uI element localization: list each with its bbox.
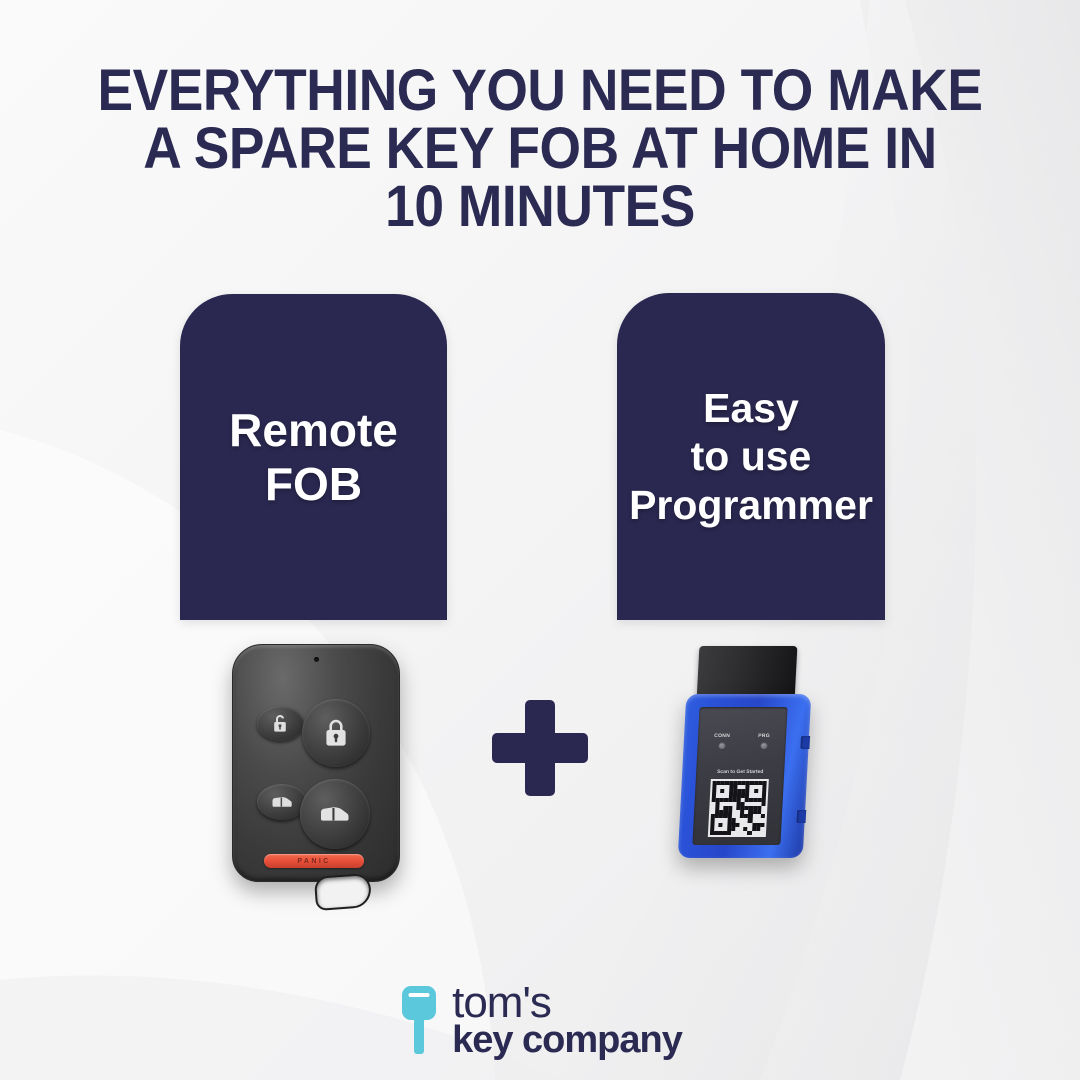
obd-scan-label: Scan to Get Started <box>696 769 784 775</box>
obd-led-row: CONN PRG <box>705 733 779 763</box>
obd-led-conn-dot <box>718 742 725 749</box>
obd-led-prg-dot <box>760 742 767 749</box>
obd-led-conn-label: CONN <box>708 733 736 739</box>
headline-line-3: 10 MINUTES <box>43 178 1037 236</box>
headline: EVERYTHING YOU NEED TO MAKE A SPARE KEY … <box>43 62 1037 236</box>
key-icon <box>398 984 440 1056</box>
obd-side-notch-bottom <box>797 810 807 823</box>
obd-side-notch-top <box>800 736 810 749</box>
brand-logo-line-1: tom's <box>452 983 682 1023</box>
obd-face-panel: CONN PRG Scan to Get Started <box>692 707 787 845</box>
panic-button-label: PANIC <box>297 858 330 865</box>
unlock-icon <box>257 706 304 741</box>
key-fob-led-indicator <box>314 657 319 662</box>
obd-led-prg: PRG <box>749 733 778 749</box>
brand-logo-wordmark: tom's key company <box>452 983 682 1058</box>
obd-led-prg-label: PRG <box>750 733 778 739</box>
headline-line-1: EVERYTHING YOU NEED TO MAKE <box>43 62 1037 120</box>
card-programmer: Easy to use Programmer <box>617 293 885 620</box>
qr-code-icon <box>708 779 769 837</box>
van-icon-right <box>300 779 370 849</box>
brand-logo: tom's key company <box>0 983 1080 1058</box>
card-programmer-label: Easy to use Programmer <box>629 384 873 529</box>
obd-body: CONN PRG Scan to Get Started <box>678 694 812 858</box>
card-remote-fob: Remote FOB <box>180 294 447 620</box>
obd-programmer-image: CONN PRG Scan to Get Started <box>676 646 812 864</box>
headline-line-2: A SPARE KEY FOB AT HOME IN <box>43 120 1037 178</box>
lock-icon <box>302 699 370 767</box>
key-fob-body <box>232 644 400 882</box>
obd-led-conn: CONN <box>707 733 736 749</box>
card-remote-fob-label: Remote FOB <box>229 403 398 512</box>
obd-connector <box>697 646 798 700</box>
key-fob-image: PANIC <box>232 644 400 882</box>
panic-button: PANIC <box>264 854 364 868</box>
plus-icon-vertical-bar <box>525 700 555 796</box>
brand-logo-line-2: key company <box>452 1023 682 1058</box>
plus-icon <box>492 700 588 796</box>
